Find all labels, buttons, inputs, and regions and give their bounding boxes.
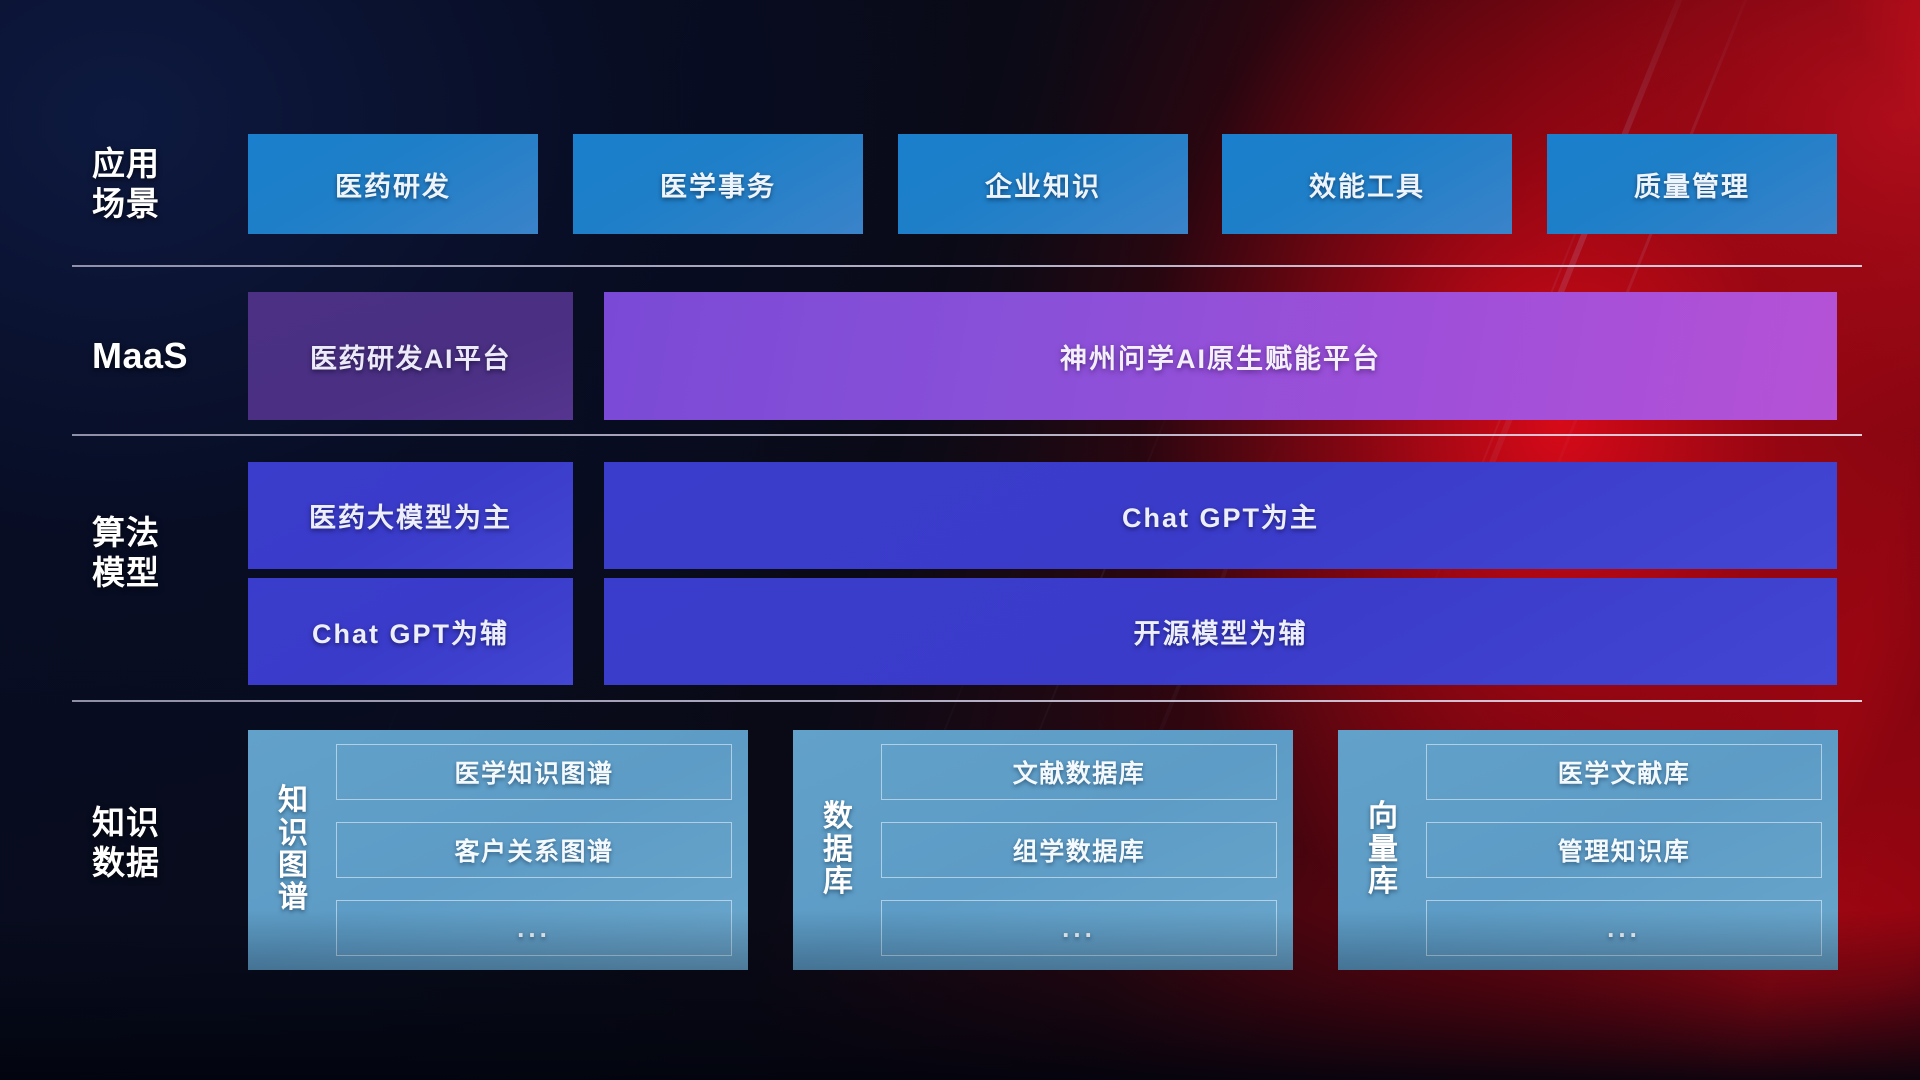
knowledge-card-2-vchar-2: 库 — [1368, 866, 1398, 898]
knowledge-card-1-vchar-1: 据 — [823, 834, 853, 866]
knowledge-card-2[interactable]: 向 量 库 医学文献库 管理知识库 ... — [1338, 730, 1838, 970]
app-box-2[interactable]: 企业知识 — [898, 134, 1188, 234]
app-box-4[interactable]: 质量管理 — [1547, 134, 1837, 234]
knowledge-card-1-item-1-label: 组学数据库 — [1013, 832, 1146, 868]
row-label-algorithm-line2: 模型 — [92, 553, 242, 593]
row-label-algorithm-line1: 算法 — [92, 513, 242, 553]
row-label-application: 应用 场景 — [92, 144, 242, 224]
algorithm-left-box-0-label: 医药大模型为主 — [309, 496, 512, 535]
knowledge-card-2-vchar-1: 量 — [1368, 834, 1398, 866]
divider-algorithm-knowledge — [72, 700, 1862, 702]
knowledge-card-0-vchar-1: 识 — [278, 818, 308, 850]
app-box-4-label: 质量管理 — [1634, 165, 1750, 204]
knowledge-card-0-item-2-label: ... — [517, 913, 551, 944]
knowledge-card-0-items: 医学知识图谱 客户关系图谱 ... — [324, 744, 732, 956]
knowledge-card-1-item-2[interactable]: ... — [881, 900, 1277, 956]
knowledge-card-1[interactable]: 数 据 库 文献数据库 组学数据库 ... — [793, 730, 1293, 970]
knowledge-card-2-item-1-label: 管理知识库 — [1558, 832, 1691, 868]
knowledge-card-0-vchar-2: 图 — [278, 850, 308, 882]
row-label-knowledge: 知识 数据 — [92, 803, 242, 883]
knowledge-card-2-item-2[interactable]: ... — [1426, 900, 1822, 956]
knowledge-card-2-vchar-0: 向 — [1368, 801, 1398, 833]
knowledge-card-1-vertical-label: 数 据 库 — [807, 744, 869, 956]
knowledge-card-0-vchar-3: 谱 — [278, 882, 308, 914]
app-box-1-label: 医学事务 — [660, 165, 776, 204]
knowledge-card-2-items: 医学文献库 管理知识库 ... — [1414, 744, 1822, 956]
slide-canvas: 应用 场景 医药研发 医学事务 企业知识 效能工具 质量管理 MaaS 医药研发… — [0, 0, 1920, 1080]
row-label-maas: MaaS — [92, 336, 242, 376]
algorithm-right-box-0[interactable]: Chat GPT为主 — [604, 462, 1837, 569]
knowledge-card-1-vchar-2: 库 — [823, 866, 853, 898]
row-label-application-line1: 应用 — [92, 144, 242, 184]
divider-maas-algorithm — [72, 434, 1862, 436]
knowledge-card-1-item-0-label: 文献数据库 — [1013, 754, 1146, 790]
app-box-3-label: 效能工具 — [1309, 165, 1425, 204]
knowledge-card-1-items: 文献数据库 组学数据库 ... — [869, 744, 1277, 956]
knowledge-card-2-item-2-label: ... — [1607, 913, 1641, 944]
knowledge-card-0-item-1-label: 客户关系图谱 — [454, 832, 613, 868]
knowledge-card-2-vertical-label: 向 量 库 — [1352, 744, 1414, 956]
algorithm-left-box-1-label: Chat GPT为辅 — [312, 612, 509, 651]
algorithm-right-box-1[interactable]: 开源模型为辅 — [604, 578, 1837, 685]
algorithm-left-box-1[interactable]: Chat GPT为辅 — [248, 578, 573, 685]
row-label-algorithm: 算法 模型 — [92, 513, 242, 593]
knowledge-card-0-vchar-0: 知 — [278, 785, 308, 817]
app-box-0[interactable]: 医药研发 — [248, 134, 538, 234]
maas-right-box-label: 神州问学AI原生赋能平台 — [1060, 337, 1381, 376]
divider-application-maas — [72, 265, 1862, 267]
knowledge-card-0-vertical-label: 知 识 图 谱 — [262, 744, 324, 956]
knowledge-card-0-item-0[interactable]: 医学知识图谱 — [336, 744, 732, 800]
maas-left-box-label: 医药研发AI平台 — [310, 337, 511, 376]
knowledge-card-1-vchar-0: 数 — [823, 801, 853, 833]
knowledge-card-2-item-0[interactable]: 医学文献库 — [1426, 744, 1822, 800]
app-box-2-label: 企业知识 — [985, 165, 1101, 204]
knowledge-card-1-item-1[interactable]: 组学数据库 — [881, 822, 1277, 878]
maas-right-box[interactable]: 神州问学AI原生赋能平台 — [604, 292, 1837, 420]
row-label-maas-text: MaaS — [92, 336, 242, 376]
knowledge-card-0[interactable]: 知 识 图 谱 医学知识图谱 客户关系图谱 ... — [248, 730, 748, 970]
row-label-knowledge-line1: 知识 — [92, 803, 242, 843]
algorithm-left-box-0[interactable]: 医药大模型为主 — [248, 462, 573, 569]
knowledge-card-0-item-2[interactable]: ... — [336, 900, 732, 956]
knowledge-card-1-item-0[interactable]: 文献数据库 — [881, 744, 1277, 800]
algorithm-right-box-1-label: 开源模型为辅 — [1134, 612, 1308, 651]
knowledge-card-0-item-1[interactable]: 客户关系图谱 — [336, 822, 732, 878]
app-box-0-label: 医药研发 — [335, 165, 451, 204]
knowledge-card-1-item-2-label: ... — [1062, 913, 1096, 944]
app-box-3[interactable]: 效能工具 — [1222, 134, 1512, 234]
knowledge-card-2-item-0-label: 医学文献库 — [1558, 754, 1691, 790]
algorithm-right-box-0-label: Chat GPT为主 — [1122, 496, 1319, 535]
row-label-knowledge-line2: 数据 — [92, 843, 242, 883]
knowledge-card-0-item-0-label: 医学知识图谱 — [454, 754, 613, 790]
knowledge-card-2-item-1[interactable]: 管理知识库 — [1426, 822, 1822, 878]
app-box-1[interactable]: 医学事务 — [573, 134, 863, 234]
maas-left-box[interactable]: 医药研发AI平台 — [248, 292, 573, 420]
row-label-application-line2: 场景 — [92, 184, 242, 224]
